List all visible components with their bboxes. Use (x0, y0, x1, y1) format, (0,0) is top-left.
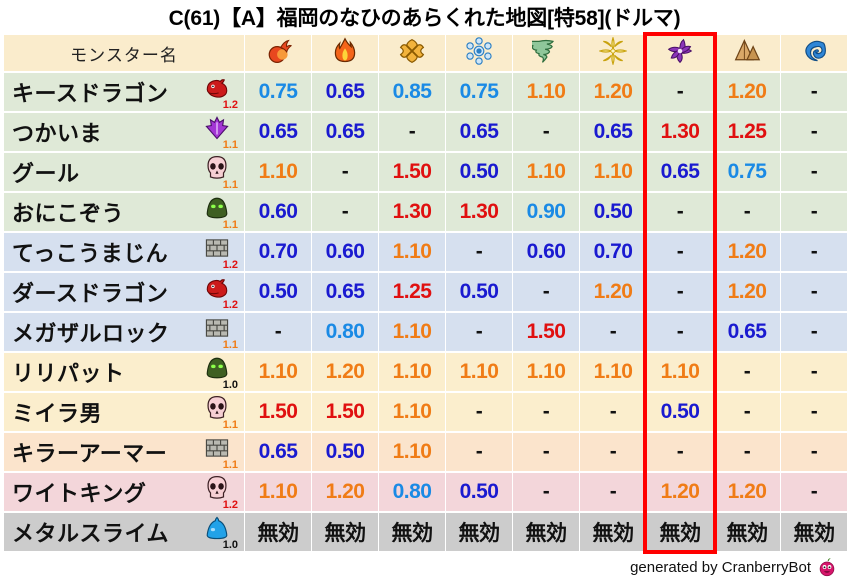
resist-value-cell: 0.65 (312, 273, 378, 311)
resist-value-cell: 0.60 (312, 233, 378, 271)
resist-value-cell: 1.20 (714, 233, 780, 271)
brick-wall-icon (204, 435, 230, 461)
resist-value-cell: - (714, 433, 780, 471)
monster-name-cell[interactable]: つかいま1.1 (4, 113, 244, 151)
monster-name-label: キラーアーマー (12, 436, 167, 468)
resist-value-cell: 0.65 (312, 73, 378, 111)
resist-value-cell: 0.65 (245, 113, 311, 151)
resist-value-cell: 無効 (647, 513, 713, 551)
resist-value-cell: - (312, 153, 378, 191)
resist-value-cell: 0.50 (446, 153, 512, 191)
resist-value-cell: 1.50 (312, 393, 378, 431)
table-header: モンスター名 (4, 35, 847, 71)
resist-value-cell: 1.10 (513, 153, 579, 191)
resist-value-cell: 0.65 (580, 113, 646, 151)
monster-name-cell[interactable]: メガザルロック1.1 (4, 313, 244, 351)
resist-value-cell: 1.10 (379, 313, 445, 351)
resist-value-cell: - (446, 313, 512, 351)
resist-value-cell: 1.20 (312, 473, 378, 511)
resist-value-cell: 無効 (781, 513, 847, 551)
resist-value-cell: - (580, 393, 646, 431)
water-wave-icon (800, 37, 828, 65)
resist-value-cell: 無効 (714, 513, 780, 551)
brick-wall-icon (204, 315, 230, 341)
column-header-jibaria[interactable] (714, 35, 780, 71)
resist-value-cell: - (580, 313, 646, 351)
monster-name-label: メガザルロック (12, 316, 170, 348)
column-header-ion[interactable] (379, 35, 445, 71)
resist-value-cell: - (513, 113, 579, 151)
resist-value-cell: 0.65 (245, 433, 311, 471)
resist-value-cell: 0.50 (312, 433, 378, 471)
resist-value-cell: - (513, 393, 579, 431)
monster-badge: 1.1 (198, 195, 238, 229)
table-row: てっこうまじん1.20.700.601.10-0.600.70-1.20- (4, 233, 847, 271)
resist-value-cell: - (312, 193, 378, 231)
monster-name-label: リリパット (12, 356, 125, 388)
resist-value-cell: - (781, 113, 847, 151)
cranberry-bot-icon (817, 557, 837, 577)
monster-name-label: ミイラ男 (12, 396, 102, 428)
resist-value-cell: 0.70 (580, 233, 646, 271)
resist-value-cell: 1.20 (714, 473, 780, 511)
resist-value-cell: - (580, 473, 646, 511)
resist-value-cell: 1.10 (647, 353, 713, 391)
column-header-monster-name: モンスター名 (4, 35, 244, 71)
resist-value-cell: 1.10 (379, 353, 445, 391)
resist-value-cell: 1.50 (245, 393, 311, 431)
monster-name-cell[interactable]: メタルスライム1.0 (4, 513, 244, 551)
column-header-bagi[interactable] (513, 35, 579, 71)
resist-value-cell: 1.30 (379, 193, 445, 231)
resist-value-cell: 0.90 (513, 193, 579, 231)
resist-value-cell: 1.20 (714, 273, 780, 311)
monster-badge: 1.2 (198, 275, 238, 309)
monster-level-label: 1.1 (223, 460, 238, 471)
resist-value-cell: - (714, 393, 780, 431)
slime-dark-icon (204, 195, 230, 221)
table-row: リリパット1.01.101.201.101.101.101.101.10-- (4, 353, 847, 391)
resist-value-cell: - (446, 433, 512, 471)
resist-value-cell: 0.65 (312, 113, 378, 151)
resist-value-cell: - (245, 313, 311, 351)
resist-value-cell: 無効 (245, 513, 311, 551)
resist-value-cell: 1.30 (647, 113, 713, 151)
monster-badge: 1.2 (198, 75, 238, 109)
table-row: ミイラ男1.11.501.501.10---0.50-- (4, 393, 847, 431)
resist-value-cell: 0.80 (379, 473, 445, 511)
resist-value-cell: - (781, 233, 847, 271)
monster-name-label: ダースドラゴン (12, 276, 168, 308)
dark-element-icon (666, 37, 694, 65)
resist-value-cell: - (781, 433, 847, 471)
table-row: おにこぞう1.10.60-1.301.300.900.50--- (4, 193, 847, 231)
lightning-star-icon (599, 37, 627, 65)
column-header-merazoma[interactable] (781, 35, 847, 71)
table-row: キラーアーマー1.10.650.501.10------ (4, 433, 847, 471)
skull-icon (204, 155, 230, 181)
resist-value-cell: - (781, 313, 847, 351)
resist-value-cell: 1.50 (379, 153, 445, 191)
monster-badge: 1.1 (198, 115, 238, 149)
resist-value-cell: - (513, 433, 579, 471)
monster-name-cell[interactable]: キースドラゴン1.2 (4, 73, 244, 111)
resist-value-cell: 0.50 (245, 273, 311, 311)
monster-level-label: 1.1 (223, 220, 238, 231)
resist-value-cell: - (781, 193, 847, 231)
resist-value-cell: 0.50 (647, 393, 713, 431)
resist-value-cell: - (379, 113, 445, 151)
skull-icon (204, 395, 230, 421)
resist-value-cell: - (714, 193, 780, 231)
resist-value-cell: - (781, 393, 847, 431)
resist-value-cell: - (647, 273, 713, 311)
monster-name-cell[interactable]: てっこうまじん1.2 (4, 233, 244, 271)
resist-value-cell: 1.20 (580, 273, 646, 311)
table-header-row: モンスター名 (4, 35, 847, 71)
resist-value-cell: 1.20 (714, 73, 780, 111)
dragon-head-icon (204, 275, 230, 301)
monster-name-label: つかいま (12, 116, 102, 148)
resist-value-cell: 無効 (446, 513, 512, 551)
monster-name-cell[interactable]: おにこぞう1.1 (4, 193, 244, 231)
monster-name-label: てっこうまじん (12, 236, 168, 268)
resist-value-cell: - (781, 473, 847, 511)
skull-icon (204, 475, 230, 501)
monster-name-cell[interactable]: グール1.1 (4, 153, 244, 191)
monster-level-label: 1.1 (223, 420, 238, 431)
resist-value-cell: 1.10 (379, 233, 445, 271)
column-header-dorma[interactable] (647, 35, 713, 71)
table-row: メガザルロック1.1-0.801.10-1.50--0.65- (4, 313, 847, 351)
resist-value-cell: 0.50 (446, 273, 512, 311)
resist-value-cell: 0.70 (245, 233, 311, 271)
resist-value-cell: - (513, 273, 579, 311)
resist-value-cell: 0.65 (647, 153, 713, 191)
resist-value-cell: 0.60 (513, 233, 579, 271)
resist-value-cell: - (647, 313, 713, 351)
monster-level-label: 1.2 (223, 100, 238, 111)
resist-value-cell: 1.10 (580, 353, 646, 391)
monster-level-label: 1.1 (223, 140, 238, 151)
resist-value-cell: 1.25 (379, 273, 445, 311)
footer-text: generated by CranberryBot (630, 559, 811, 576)
resist-value-cell: 1.20 (312, 353, 378, 391)
resist-value-cell: 1.20 (580, 73, 646, 111)
brick-wall-icon (204, 235, 230, 261)
resist-value-cell: 1.10 (446, 353, 512, 391)
resist-value-cell: 1.10 (379, 433, 445, 471)
resist-value-cell: 無効 (379, 513, 445, 551)
trident-icon (204, 115, 230, 141)
resist-value-cell: - (647, 193, 713, 231)
resist-value-cell: 1.20 (647, 473, 713, 511)
resist-value-cell: 1.10 (245, 473, 311, 511)
resist-value-cell: 1.10 (245, 353, 311, 391)
monster-badge: 1.1 (198, 315, 238, 349)
monster-badge: 1.1 (198, 155, 238, 189)
resist-value-cell: - (647, 433, 713, 471)
monster-badge: 1.1 (198, 395, 238, 429)
resist-value-cell: 1.10 (379, 393, 445, 431)
column-header-dein[interactable] (580, 35, 646, 71)
resist-value-cell: 1.25 (714, 113, 780, 151)
table-row: メタルスライム1.0無効無効無効無効無効無効無効無効無効 (4, 513, 847, 551)
page-title-text: C(61)【A】福岡のなひのあらくれた地図[特58](ドルマ) (169, 2, 681, 32)
monster-name-label: キースドラゴン (12, 76, 168, 108)
table-body: キースドラゴン1.20.750.650.850.751.101.20-1.20-… (4, 73, 847, 551)
blue-slime-icon (204, 515, 230, 541)
resist-value-cell: - (781, 153, 847, 191)
column-header-mera[interactable] (245, 35, 311, 71)
monster-name-cell[interactable]: リリパット1.0 (4, 353, 244, 391)
resist-value-cell: 無効 (312, 513, 378, 551)
resist-value-cell: - (714, 353, 780, 391)
monster-badge: 1.2 (198, 235, 238, 269)
resist-value-cell: 1.10 (580, 153, 646, 191)
resist-value-cell: 0.75 (446, 73, 512, 111)
dragon-head-icon (204, 75, 230, 101)
resist-value-cell: 1.10 (513, 353, 579, 391)
resist-value-cell: - (446, 393, 512, 431)
table-row: ワイトキング1.21.101.200.800.50--1.201.20- (4, 473, 847, 511)
resist-value-cell: - (446, 233, 512, 271)
resist-value-cell: - (647, 73, 713, 111)
resist-value-cell: 0.75 (714, 153, 780, 191)
snowflake-icon (465, 37, 493, 65)
resist-value-cell: 0.65 (714, 313, 780, 351)
resist-value-cell: 0.50 (446, 473, 512, 511)
resist-value-cell: 無効 (513, 513, 579, 551)
monster-level-label: 1.0 (223, 540, 238, 551)
resist-value-cell: 0.65 (446, 113, 512, 151)
table-row: キースドラゴン1.20.750.650.850.751.101.20-1.20- (4, 73, 847, 111)
resist-value-cell: - (513, 473, 579, 511)
monster-level-label: 1.1 (223, 340, 238, 351)
monster-level-label: 1.2 (223, 500, 238, 511)
resist-value-cell: 無効 (580, 513, 646, 551)
resist-value-cell: - (781, 73, 847, 111)
column-header-hyado[interactable] (446, 35, 512, 71)
resist-value-cell: 1.10 (245, 153, 311, 191)
monster-level-label: 1.1 (223, 180, 238, 191)
monster-name-cell[interactable]: ワイトキング1.2 (4, 473, 244, 511)
resist-value-cell: 1.50 (513, 313, 579, 351)
resistance-table: モンスター名 キースドラゴン1.20.750.650.850.751.101.2… (3, 33, 848, 553)
monster-badge: 1.0 (198, 515, 238, 549)
fire-ball-icon (264, 37, 292, 65)
resist-value-cell: 0.60 (245, 193, 311, 231)
column-header-gira[interactable] (312, 35, 378, 71)
monster-level-label: 1.0 (223, 380, 238, 391)
resist-value-cell: 0.50 (580, 193, 646, 231)
resist-value-cell: 0.85 (379, 73, 445, 111)
slime-dark-icon (204, 355, 230, 381)
monster-name-cell[interactable]: ダースドラゴン1.2 (4, 273, 244, 311)
monster-name-label: ワイトキング (12, 476, 146, 508)
monster-level-label: 1.2 (223, 300, 238, 311)
tornado-icon (532, 37, 560, 65)
monster-name-label: おにこぞう (12, 196, 124, 228)
resist-value-cell: - (781, 353, 847, 391)
table-row: つかいま1.10.650.65-0.65-0.651.301.25- (4, 113, 847, 151)
flame-icon (331, 37, 359, 65)
monster-badge: 1.2 (198, 475, 238, 509)
monster-name-label: メタルスライム (12, 516, 169, 548)
table-row: ダースドラゴン1.20.500.651.250.50-1.20-1.20- (4, 273, 847, 311)
resist-value-cell: 0.75 (245, 73, 311, 111)
monster-level-label: 1.2 (223, 260, 238, 271)
monster-name-cell[interactable]: ミイラ男1.1 (4, 393, 244, 431)
resist-value-cell: 1.30 (446, 193, 512, 231)
mountain-icon (733, 37, 761, 65)
monster-name-cell[interactable]: キラーアーマー1.1 (4, 433, 244, 471)
monster-name-label: グール (12, 156, 80, 188)
explosion-icon (398, 37, 426, 65)
page-title: C(61)【A】福岡のなひのあらくれた地図[特58](ドルマ) (0, 0, 849, 33)
resist-value-cell: - (781, 273, 847, 311)
resist-value-cell: - (647, 233, 713, 271)
monster-badge: 1.0 (198, 355, 238, 389)
resist-value-cell: 0.80 (312, 313, 378, 351)
table-row: グール1.11.10-1.500.501.101.100.650.75- (4, 153, 847, 191)
resist-value-cell: - (580, 433, 646, 471)
monster-badge: 1.1 (198, 435, 238, 469)
footer: generated by CranberryBot (630, 557, 837, 577)
resist-value-cell: 1.10 (513, 73, 579, 111)
